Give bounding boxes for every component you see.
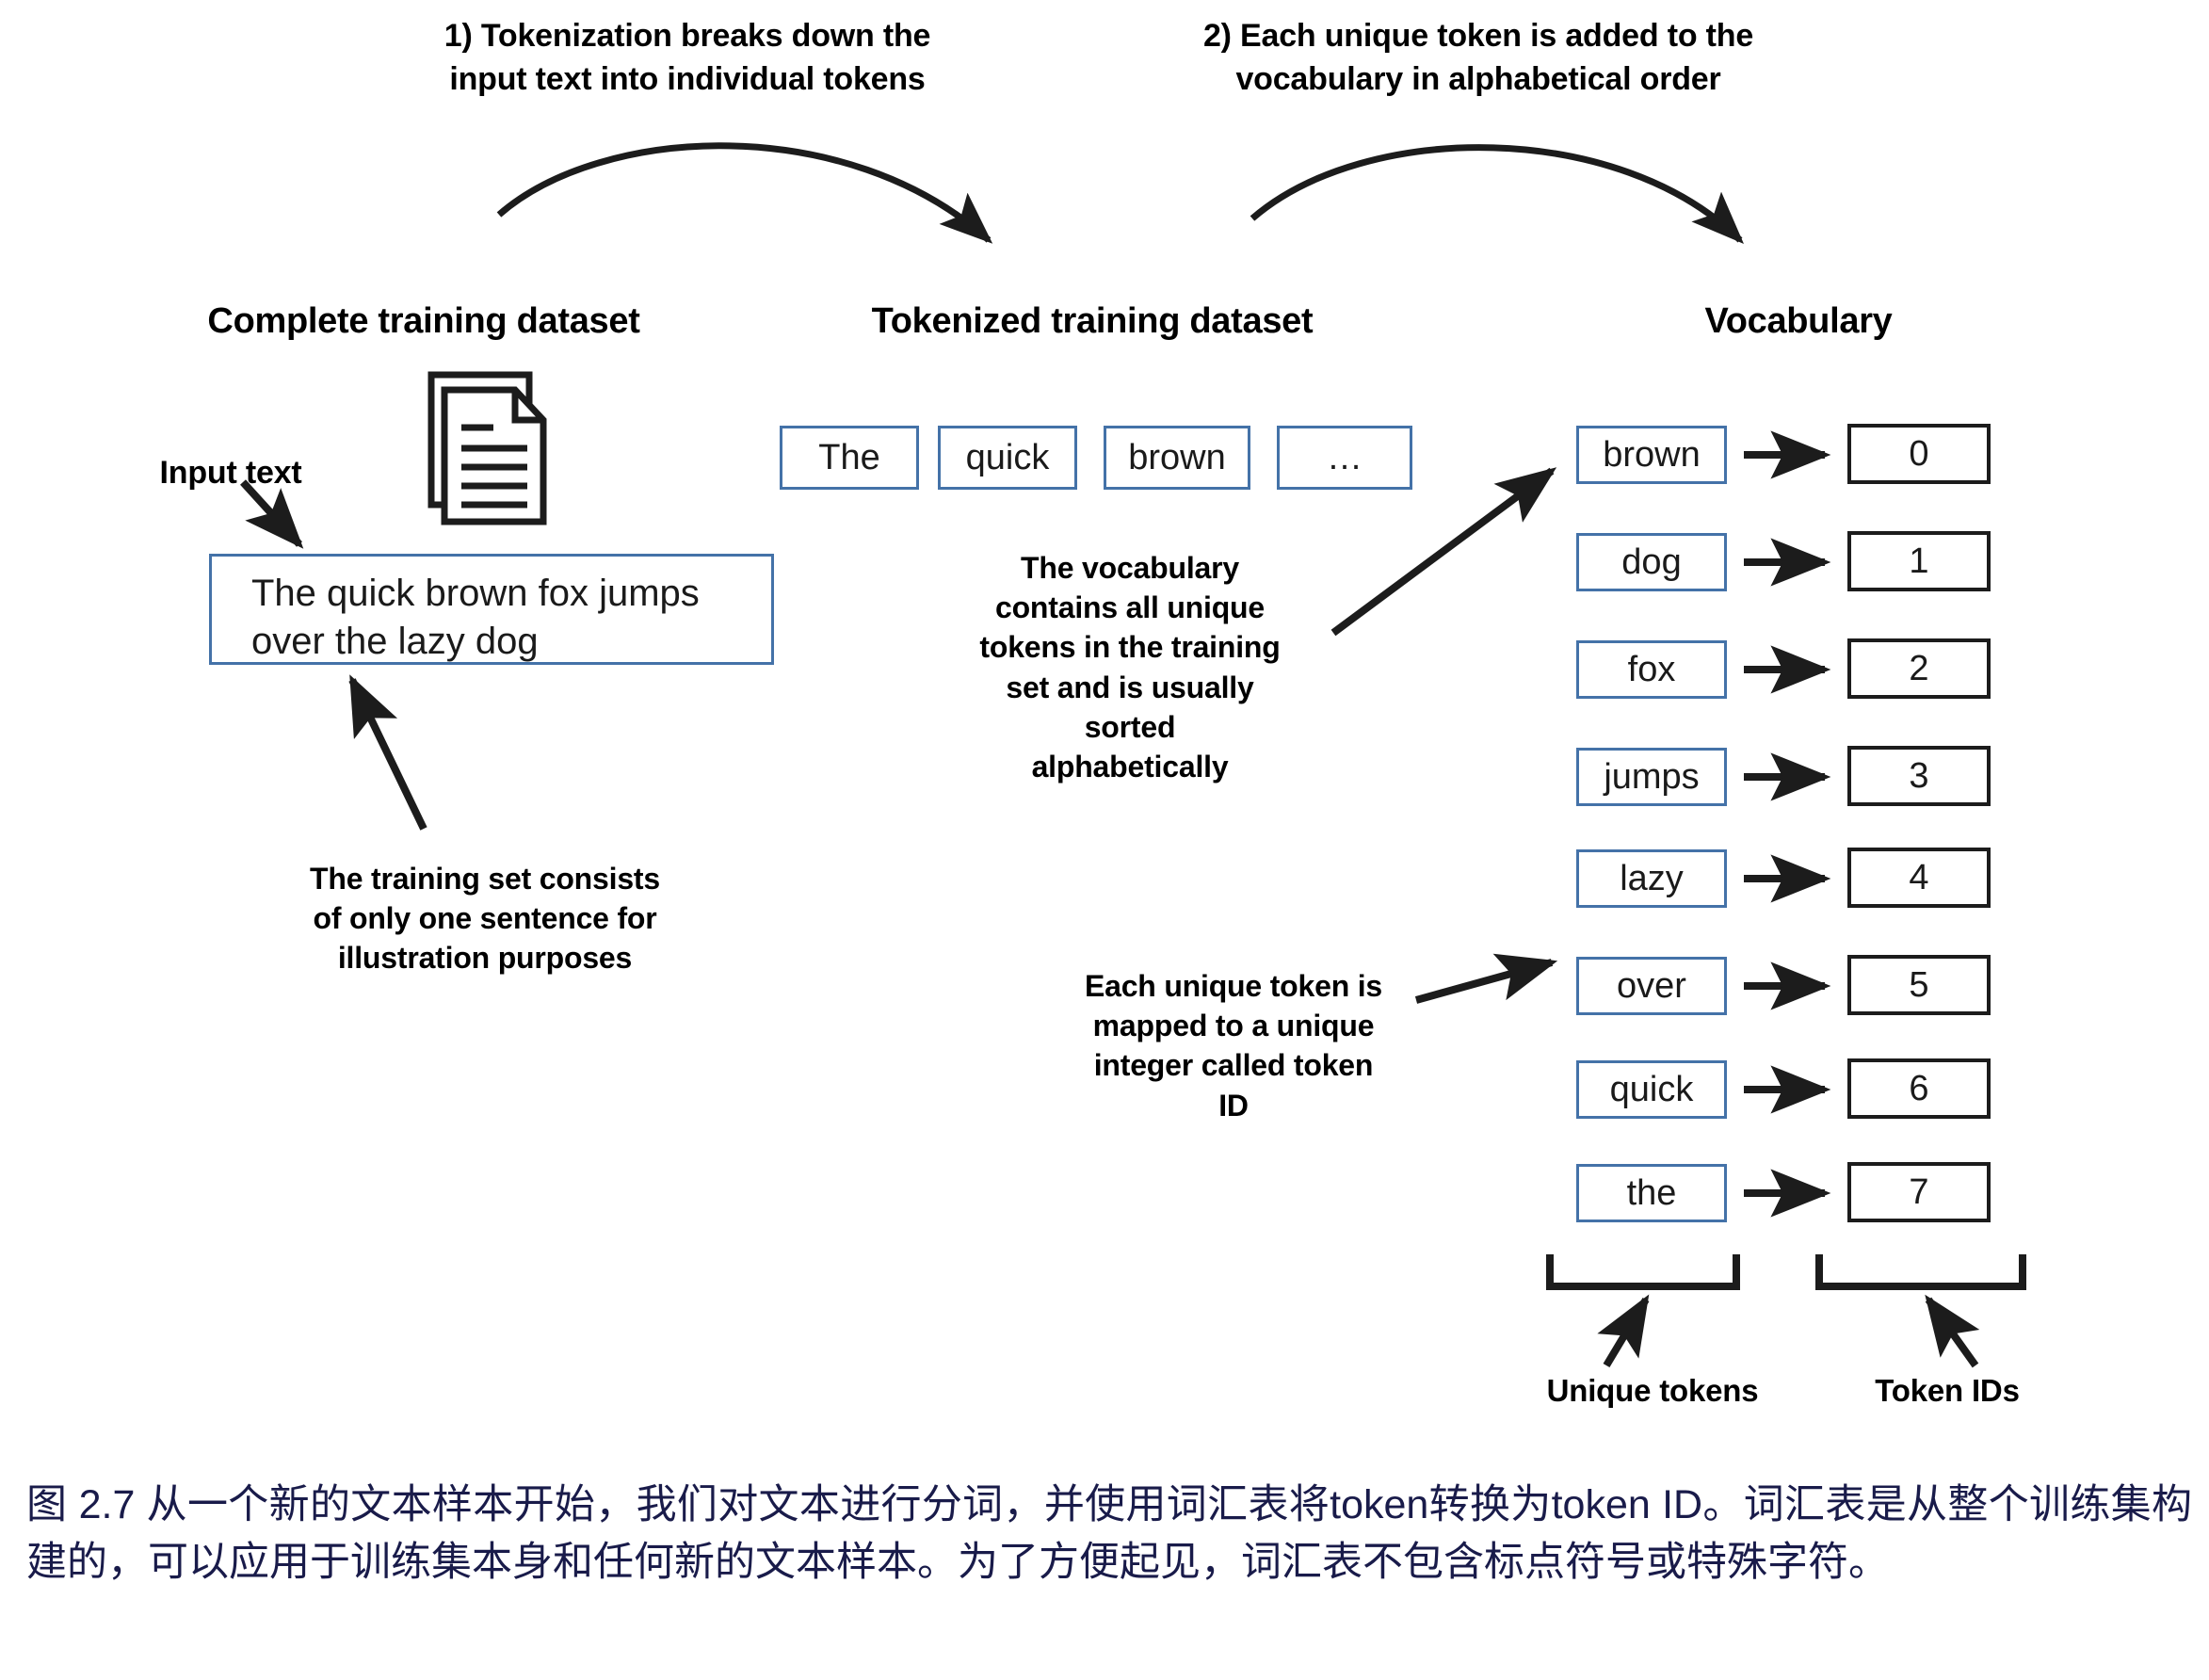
vocab-id-box-3[interactable]: 3 xyxy=(1847,746,1991,806)
unique-tokens-bracket xyxy=(1550,1254,1736,1286)
curved-arrow-step-2 xyxy=(1252,148,1740,240)
vocab-id-box-4[interactable]: 4 xyxy=(1847,848,1991,908)
token-id-note-arrow xyxy=(1416,962,1552,1000)
vocab-token-box-1[interactable]: dog xyxy=(1576,533,1727,591)
vocab-id-box-0[interactable]: 0 xyxy=(1847,424,1991,484)
vocab-token-box-3[interactable]: jumps xyxy=(1576,748,1727,806)
vocab-token-box-0[interactable]: brown xyxy=(1576,426,1727,484)
vocab-token-box-7[interactable]: the xyxy=(1576,1164,1727,1222)
vocab-token-box-5[interactable]: over xyxy=(1576,957,1727,1015)
token-box-1[interactable]: quick xyxy=(938,426,1077,490)
token-ids-bracket xyxy=(1819,1254,2023,1286)
token-box-0[interactable]: The xyxy=(780,426,919,490)
vocab-id-box-1[interactable]: 1 xyxy=(1847,531,1991,591)
token-box-2[interactable]: brown xyxy=(1104,426,1250,490)
bracket-label-token-ids: Token IDs xyxy=(1806,1370,2088,1412)
vocab-id-box-6[interactable]: 6 xyxy=(1847,1058,1991,1119)
step-1-label: 1) Tokenization breaks down the input te… xyxy=(395,15,979,102)
vocab-id-box-5[interactable]: 5 xyxy=(1847,955,1991,1015)
token-box-ellipsis[interactable]: … xyxy=(1277,426,1412,490)
token-ids-label-arrow xyxy=(1928,1300,1975,1365)
vocabulary-note-arrow xyxy=(1333,471,1552,633)
unique-tokens-label-arrow xyxy=(1606,1300,1646,1365)
training-set-note: The training set consists of only one se… xyxy=(259,859,711,978)
section-title-tokenized-training-dataset: Tokenized training dataset xyxy=(800,301,1384,342)
vocabulary-note: The vocabulary contains all unique token… xyxy=(942,548,1318,786)
arrows-overlay xyxy=(0,0,2209,1680)
input-text-label: Input text xyxy=(113,452,348,494)
vocab-token-box-6[interactable]: quick xyxy=(1576,1060,1727,1119)
curved-arrow-step-1 xyxy=(499,146,989,240)
input-text-box[interactable]: The quick brown fox jumps over the lazy … xyxy=(209,554,774,665)
section-title-vocabulary: Vocabulary xyxy=(1544,301,2053,342)
documents-icon xyxy=(426,369,567,534)
vocab-id-box-2[interactable]: 2 xyxy=(1847,638,1991,699)
bracket-label-unique-tokens: Unique tokens xyxy=(1488,1370,1817,1412)
vocab-id-box-7[interactable]: 7 xyxy=(1847,1162,1991,1222)
vocab-token-box-4[interactable]: lazy xyxy=(1576,849,1727,908)
token-id-note: Each unique token is mapped to a unique … xyxy=(1073,966,1394,1125)
figure-caption: 图 2.7 从一个新的文本样本开始，我们对文本进行分词，并使用词汇表将token… xyxy=(26,1477,2192,1591)
step-2-label: 2) Each unique token is added to the voc… xyxy=(1158,15,1798,102)
section-title-complete-training-dataset: Complete training dataset xyxy=(141,301,706,342)
training-set-note-arrow xyxy=(352,680,424,829)
vocab-token-box-2[interactable]: fox xyxy=(1576,640,1727,699)
